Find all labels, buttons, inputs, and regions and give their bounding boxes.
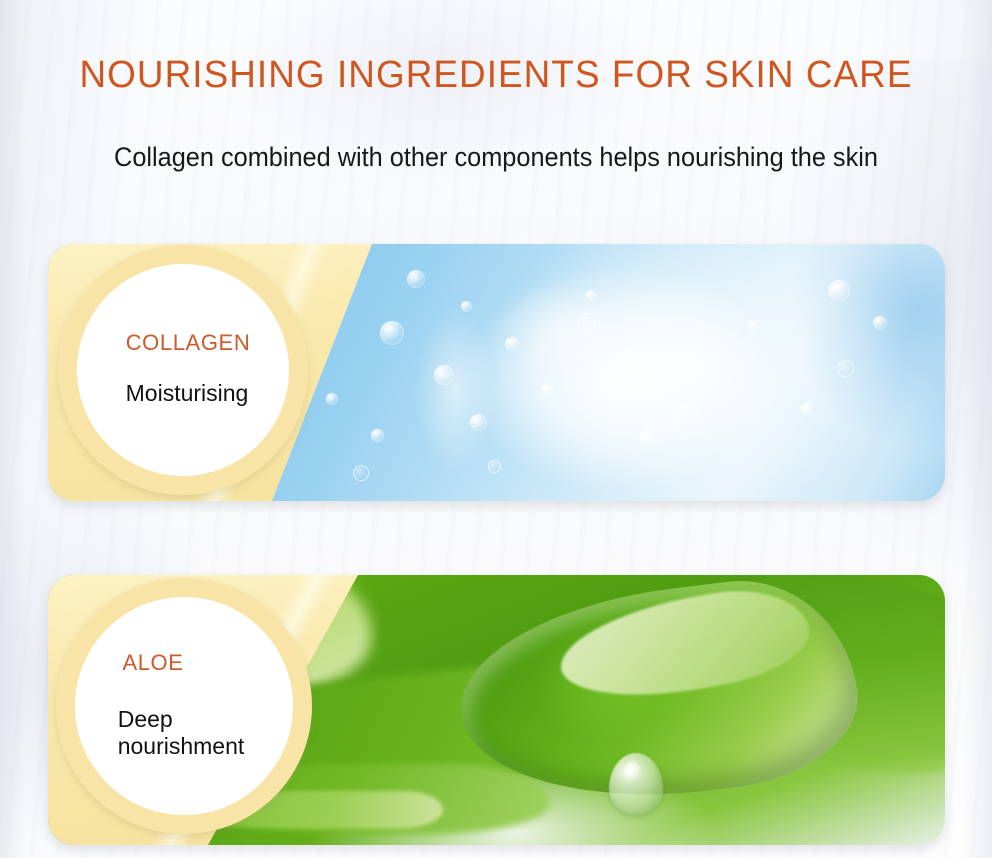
bubble-haze (353, 265, 694, 491)
page-subtitle: Collagen combined with other components … (22, 142, 969, 173)
badge-title-collagen: COLLAGEN (126, 332, 251, 354)
badge-title-aloe: ALOE (122, 652, 183, 674)
ingredient-badge-aloe: ALOE Deep nourishment (56, 578, 312, 834)
badge-description-aloe: Deep nourishment (118, 706, 245, 760)
infographic-page: NOURISHING INGREDIENTS FOR SKIN CARE Col… (0, 0, 992, 858)
droplet-highlight (624, 761, 641, 782)
badge-description-collagen: Moisturising (126, 380, 249, 407)
badge-inner-circle: ALOE Deep nourishment (75, 597, 293, 815)
ingredient-badge-collagen: COLLAGEN Moisturising (58, 245, 308, 495)
badge-inner-circle: COLLAGEN Moisturising (77, 264, 289, 476)
aloe-gel-cut-face (553, 578, 816, 712)
page-title: NOURISHING INGREDIENTS FOR SKIN CARE (15, 54, 977, 97)
aloe-blade-right (695, 575, 945, 799)
